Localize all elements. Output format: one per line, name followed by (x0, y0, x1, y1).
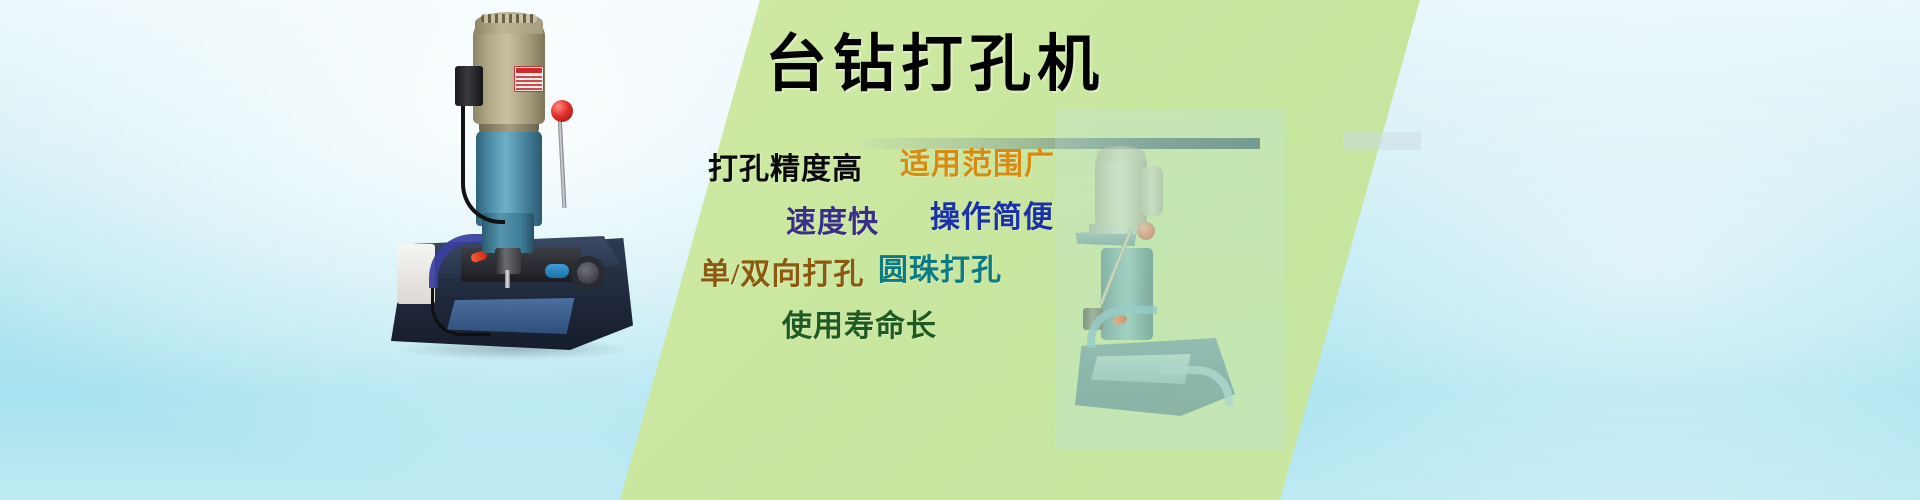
feature-item-6: 圆珠打孔 (878, 256, 1002, 286)
product-image-bench-drill-large (375, 8, 645, 368)
machine-handwheel (571, 256, 605, 290)
machine-feed-lever (558, 116, 567, 208)
machine-nameplate-header (516, 68, 542, 73)
product-banner: 台钻打孔机 打孔精度高 适用范围广 速度快 操作简便 单/双向打孔 圆珠打孔 使… (0, 0, 1920, 500)
feature-item-5: 单/双向打孔 (700, 260, 864, 290)
corner-swatch (1343, 132, 1421, 150)
machine2-motor-body (1095, 152, 1147, 226)
machine-drill-bit (505, 270, 510, 288)
machine2-motor-cap (1097, 146, 1145, 162)
machine2-lever-knob (1137, 222, 1155, 240)
machine-motor-vents (481, 14, 537, 23)
banner-title: 台钻打孔机 (700, 34, 1170, 96)
banner-title-wrap: 台钻打孔机 (700, 34, 1170, 96)
product-image-bench-drill-small (1075, 130, 1255, 420)
machine-blue-cylinder (545, 264, 569, 278)
machine-lever-knob (551, 100, 573, 122)
machine-nameplate-text (516, 76, 542, 90)
feature-item-1: 打孔精度高 (708, 155, 863, 185)
feature-item-3: 速度快 (786, 208, 879, 238)
machine-junction-box (455, 66, 483, 106)
machine2-capacitor (1141, 166, 1163, 216)
feature-item-4: 操作简便 (930, 203, 1054, 233)
feature-item-2: 适用范围广 (900, 150, 1055, 180)
feature-item-7: 使用寿命长 (782, 312, 937, 342)
